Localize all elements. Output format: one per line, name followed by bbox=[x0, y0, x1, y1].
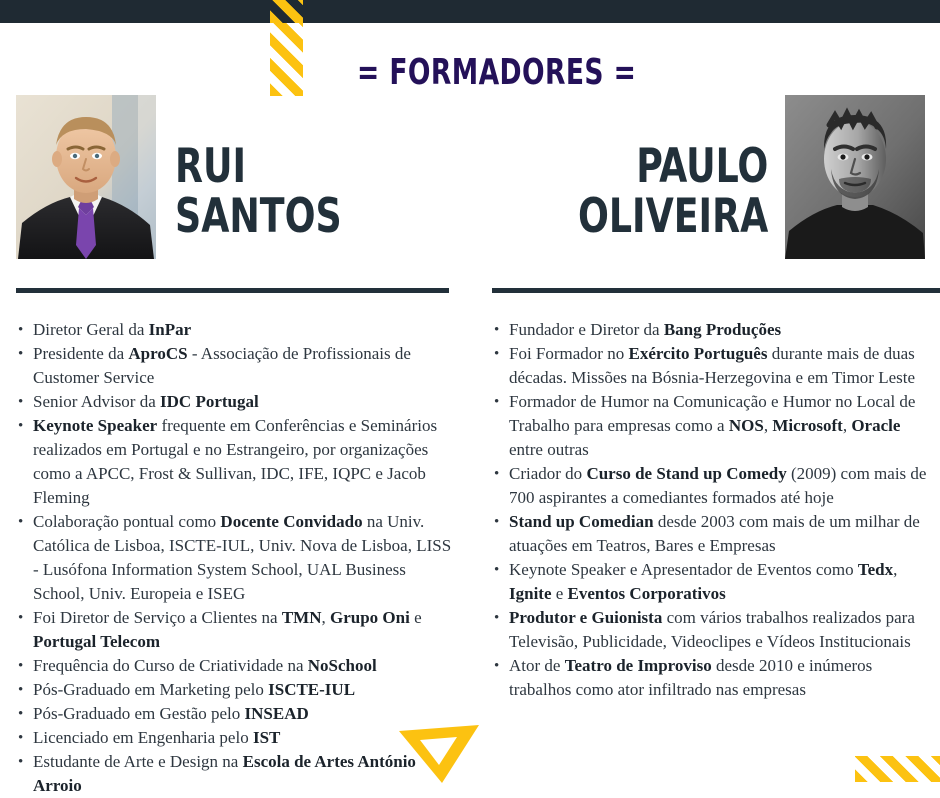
trainer-name-line-1: RUI bbox=[175, 139, 246, 194]
bio-text: Pós-Graduado em Gestão pelo bbox=[33, 704, 245, 723]
bio-text: Foi Formador no bbox=[509, 344, 628, 363]
bio-highlight: NoSchool bbox=[308, 656, 377, 675]
bio-highlight: Bang Produções bbox=[664, 320, 781, 339]
bio-highlight: Tedx bbox=[858, 560, 893, 579]
bio-highlight: Teatro de Improviso bbox=[565, 656, 712, 675]
triangle-outline-icon bbox=[398, 724, 480, 784]
trainer-name-rui-santos: RUISANTOS bbox=[175, 142, 342, 242]
bio-text: Frequência do Curso de Criatividade na bbox=[33, 656, 308, 675]
bio-bullets: Diretor Geral da InParPresidente da Apro… bbox=[16, 318, 452, 798]
bio-bullet-item: Fundador e Diretor da Bang Produções bbox=[492, 318, 932, 342]
bio-highlight: TMN bbox=[282, 608, 322, 627]
bio-bullet-item: Senior Advisor da IDC Portugal bbox=[16, 390, 452, 414]
bio-highlight: NOS bbox=[729, 416, 764, 435]
bio-highlight: Docente Convidado bbox=[220, 512, 362, 531]
bio-text: Foi Diretor de Serviço a Clientes na bbox=[33, 608, 282, 627]
bio-bullet-item: Frequência do Curso de Criatividade na N… bbox=[16, 654, 452, 678]
yellow-stripe-dark-segment bbox=[270, 0, 303, 23]
portrait-paulo-oliveira-illustration bbox=[785, 95, 925, 259]
bio-bullet-item: Estudante de Arte e Design na Escola de … bbox=[16, 750, 452, 798]
bio-text: Criador do bbox=[509, 464, 586, 483]
bio-highlight: Eventos Corporativos bbox=[568, 584, 726, 603]
bio-list-rui-santos: Diretor Geral da InParPresidente da Apro… bbox=[16, 318, 452, 798]
bio-bullet-item: Keynote Speaker frequente em Conferência… bbox=[16, 414, 452, 510]
trainer-name-line-2: OLIVEIRA bbox=[578, 189, 768, 244]
bio-text: e bbox=[552, 584, 568, 603]
divider-right bbox=[492, 288, 940, 293]
top-dark-bar bbox=[0, 0, 940, 23]
bio-highlight: Oracle bbox=[851, 416, 900, 435]
bio-text: Presidente da bbox=[33, 344, 128, 363]
bio-bullets: Fundador e Diretor da Bang ProduçõesFoi … bbox=[492, 318, 932, 702]
bio-highlight: Produtor e Guionista bbox=[509, 608, 662, 627]
page-title: = FORMADORES = bbox=[357, 52, 603, 93]
bio-text: , bbox=[893, 560, 897, 579]
bio-bullet-item: Diretor Geral da InPar bbox=[16, 318, 452, 342]
bio-highlight: Exército Português bbox=[628, 344, 767, 363]
bio-text: Diretor Geral da bbox=[33, 320, 149, 339]
bio-highlight: Microsoft bbox=[772, 416, 843, 435]
yellow-triangle-decoration bbox=[398, 724, 480, 784]
bio-highlight: Curso de Stand up Comedy bbox=[586, 464, 786, 483]
bio-highlight: Keynote Speaker bbox=[33, 416, 157, 435]
portrait-rui-santos-illustration bbox=[16, 95, 156, 259]
bio-bullet-item: Ator de Teatro de Improviso desde 2010 e… bbox=[492, 654, 932, 702]
bio-bullet-item: Colaboração pontual como Docente Convida… bbox=[16, 510, 452, 606]
bio-bullet-item: Keynote Speaker e Apresentador de Evento… bbox=[492, 558, 932, 606]
trainer-name-paulo-oliveira: PAULOOLIVEIRA bbox=[578, 142, 768, 242]
divider-left bbox=[16, 288, 449, 293]
bio-highlight: AproCS bbox=[128, 344, 187, 363]
avatar-paulo-oliveira bbox=[785, 95, 925, 259]
bio-highlight: ISCTE-IUL bbox=[268, 680, 355, 699]
bio-bullet-item: Formador de Humor na Comunicação e Humor… bbox=[492, 390, 932, 462]
bio-bullet-item: Produtor e Guionista com vários trabalho… bbox=[492, 606, 932, 654]
bio-bullet-item: Pós-Graduado em Marketing pelo ISCTE-IUL bbox=[16, 678, 452, 702]
bio-highlight: Portugal Telecom bbox=[33, 632, 160, 651]
bio-text: Fundador e Diretor da bbox=[509, 320, 664, 339]
bio-bullet-item: Licenciado em Engenharia pelo IST bbox=[16, 726, 452, 750]
bio-text: entre outras bbox=[509, 440, 589, 459]
yellow-stripe-vertical-bar bbox=[270, 0, 303, 96]
bio-highlight: Stand up Comedian bbox=[509, 512, 654, 531]
bio-text: Licenciado em Engenharia pelo bbox=[33, 728, 253, 747]
avatar-rui-santos bbox=[16, 95, 156, 259]
bio-highlight: IDC Portugal bbox=[160, 392, 259, 411]
bio-text: Estudante de Arte e Design na bbox=[33, 752, 243, 771]
bio-list-paulo-oliveira: Fundador e Diretor da Bang ProduçõesFoi … bbox=[492, 318, 932, 702]
bio-bullet-item: Criador do Curso de Stand up Comedy (200… bbox=[492, 462, 932, 510]
yellow-stripe-bottom-right bbox=[855, 756, 940, 782]
bio-text: Pós-Graduado em Marketing pelo bbox=[33, 680, 268, 699]
bio-text: , bbox=[321, 608, 330, 627]
bio-bullet-item: Presidente da AproCS - Associação de Pro… bbox=[16, 342, 452, 390]
bio-highlight: IST bbox=[253, 728, 280, 747]
bio-text: Keynote Speaker e Apresentador de Evento… bbox=[509, 560, 858, 579]
bio-highlight: InPar bbox=[149, 320, 192, 339]
bio-highlight: Ignite bbox=[509, 584, 552, 603]
bio-bullet-item: Foi Diretor de Serviço a Clientes na TMN… bbox=[16, 606, 452, 654]
trainer-name-line-2: SANTOS bbox=[175, 189, 342, 244]
bio-text: Ator de bbox=[509, 656, 565, 675]
bio-highlight: INSEAD bbox=[245, 704, 309, 723]
bio-bullet-item: Stand up Comedian desde 2003 com mais de… bbox=[492, 510, 932, 558]
bio-text: Colaboração pontual como bbox=[33, 512, 220, 531]
trainer-name-line-1: PAULO bbox=[636, 139, 768, 194]
bio-bullet-item: Foi Formador no Exército Português duran… bbox=[492, 342, 932, 390]
bio-text: Senior Advisor da bbox=[33, 392, 160, 411]
bio-bullet-item: Pós-Graduado em Gestão pelo INSEAD bbox=[16, 702, 452, 726]
bio-text: e bbox=[410, 608, 422, 627]
bio-highlight: Grupo Oni bbox=[330, 608, 410, 627]
